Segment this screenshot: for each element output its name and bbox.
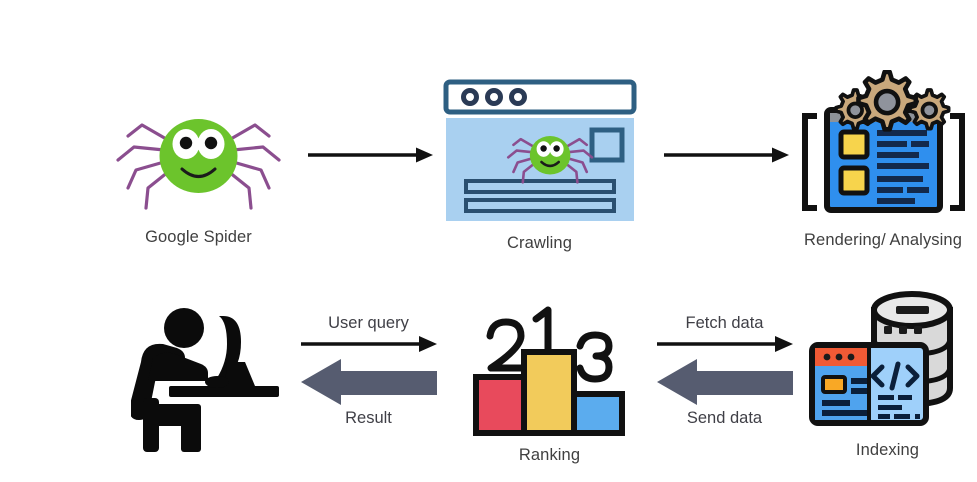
podium-chart-icon bbox=[462, 292, 637, 440]
node-indexing[interactable]: Indexing bbox=[795, 285, 977, 460]
diagram-canvas: Google Spider bbox=[0, 0, 977, 482]
node-label-crawling: Crawling bbox=[507, 234, 572, 253]
node-label-indexing: Indexing bbox=[856, 441, 919, 460]
node-label-rendering: Rendering/ Analysing bbox=[804, 231, 962, 250]
connector-spider-to-crawling bbox=[306, 145, 434, 165]
database-code-icon bbox=[798, 285, 977, 435]
node-label-google-spider: Google Spider bbox=[145, 228, 252, 247]
node-google-spider[interactable]: Google Spider bbox=[106, 92, 291, 247]
arrow-left-block-icon bbox=[299, 355, 439, 409]
node-rendering-analysing[interactable]: Rendering/ Analysing bbox=[788, 70, 977, 250]
node-crawling[interactable]: Crawling bbox=[432, 78, 647, 253]
connector-crawling-to-rendering bbox=[662, 145, 790, 165]
connector-label-result: Result bbox=[345, 409, 392, 428]
connector-fetch-send-data: Fetch data Send data bbox=[652, 314, 797, 428]
arrow-right-icon bbox=[306, 145, 434, 165]
node-user[interactable] bbox=[128, 300, 293, 455]
spider-icon bbox=[106, 92, 291, 222]
browser-window-spider-icon bbox=[440, 78, 640, 228]
node-label-ranking: Ranking bbox=[519, 446, 580, 465]
node-ranking[interactable]: Ranking bbox=[462, 292, 637, 465]
connector-label-fetch-data: Fetch data bbox=[686, 314, 764, 333]
arrow-right-icon bbox=[299, 333, 439, 355]
arrow-right-icon bbox=[662, 145, 790, 165]
gears-document-icon bbox=[791, 70, 976, 225]
connector-label-send-data: Send data bbox=[687, 409, 762, 428]
connector-label-user-query: User query bbox=[328, 314, 409, 333]
connector-user-query-result: User query Result bbox=[296, 314, 441, 428]
arrow-right-icon bbox=[655, 333, 795, 355]
arrow-left-block-icon bbox=[655, 355, 795, 409]
person-at-computer-icon bbox=[131, 300, 291, 455]
